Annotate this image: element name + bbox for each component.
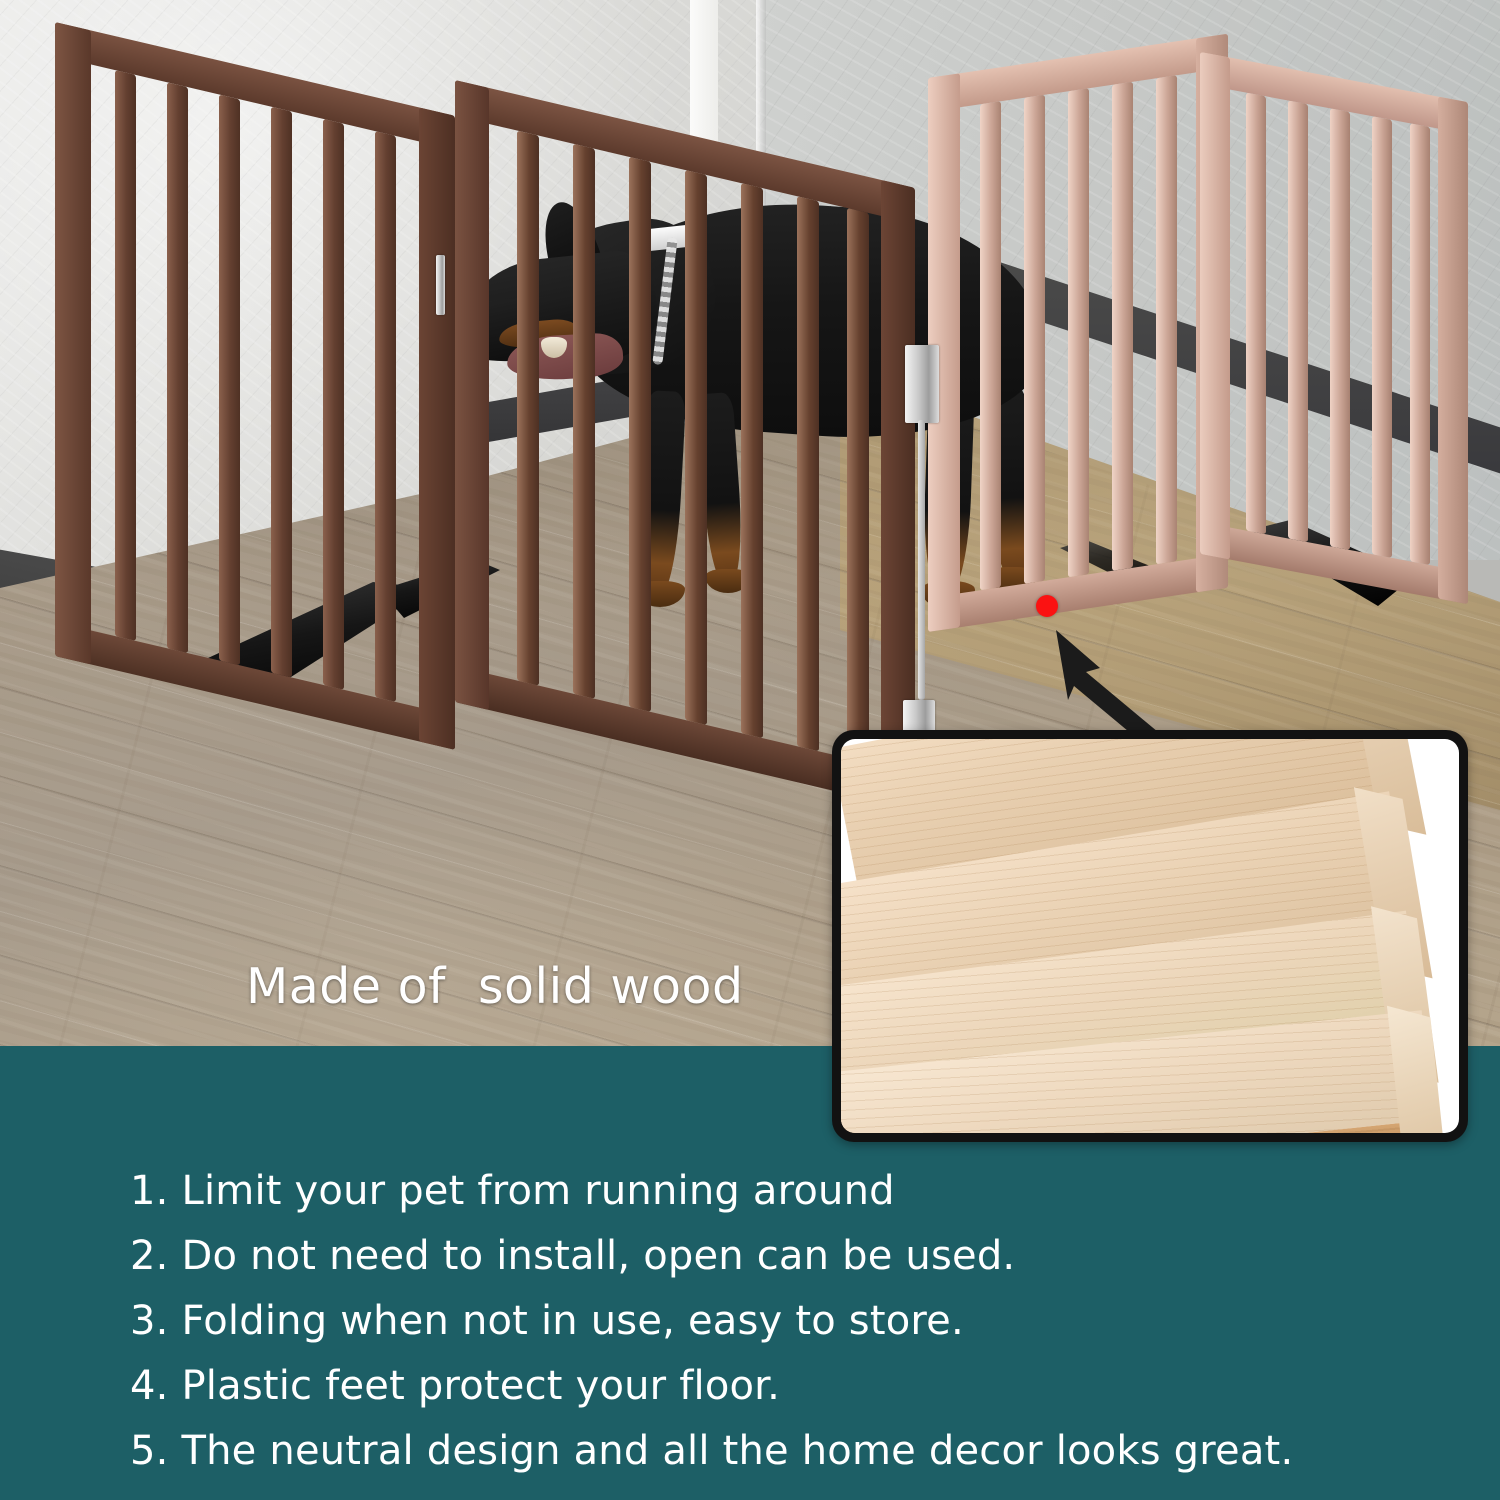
gate-slat <box>167 82 188 653</box>
gate-slat <box>629 157 651 712</box>
gate-slat <box>1024 95 1045 584</box>
gate-slat <box>1112 82 1133 571</box>
gate-slat <box>323 119 344 690</box>
hinge-rod <box>918 420 925 700</box>
gate-slat <box>1330 108 1350 550</box>
gate-slat <box>741 183 763 738</box>
feature-item-1: 1. Limit your pet from running around <box>130 1168 895 1214</box>
gate-slat <box>1372 116 1392 558</box>
product-infographic: Made of solid wood <box>0 0 1500 1500</box>
gate-slat <box>1410 123 1430 565</box>
gate-slat <box>1156 75 1177 564</box>
panel-left-stile <box>55 22 91 664</box>
solid-wood-inset-panel <box>832 730 1468 1142</box>
gate-slat <box>573 144 595 699</box>
gate-panel-left <box>55 22 455 816</box>
gate-slat <box>219 94 240 665</box>
gate-slat <box>1068 88 1089 577</box>
hinge-left-panel <box>436 255 445 315</box>
panel-left-stile <box>1200 52 1230 560</box>
gate-slat <box>685 170 707 725</box>
hinge-lower <box>903 700 935 734</box>
gate-slat <box>797 196 819 751</box>
panel-left-stile <box>455 80 489 710</box>
gate-slat <box>980 101 1001 590</box>
feature-item-4: 4. Plastic feet protect your floor. <box>130 1363 780 1409</box>
photo-caption: Made of solid wood <box>246 958 744 1015</box>
gate-slat <box>375 131 396 702</box>
panel-right-stile <box>419 107 455 749</box>
gate-slat <box>1246 93 1266 535</box>
feature-item-2: 2. Do not need to install, open can be u… <box>130 1233 1015 1279</box>
gate-slat <box>271 107 292 678</box>
gate-slat <box>1288 100 1308 542</box>
feature-item-3: 3. Folding when not in use, easy to stor… <box>130 1298 964 1344</box>
panel-right-stile <box>1438 97 1468 605</box>
gate-slat <box>847 208 869 763</box>
solid-wood-inset-image <box>841 739 1459 1133</box>
feature-item-5: 5. The neutral design and all the home d… <box>130 1428 1293 1474</box>
gate-slat <box>115 70 136 641</box>
hinge-upper <box>905 345 939 423</box>
gate-slat <box>517 131 539 686</box>
